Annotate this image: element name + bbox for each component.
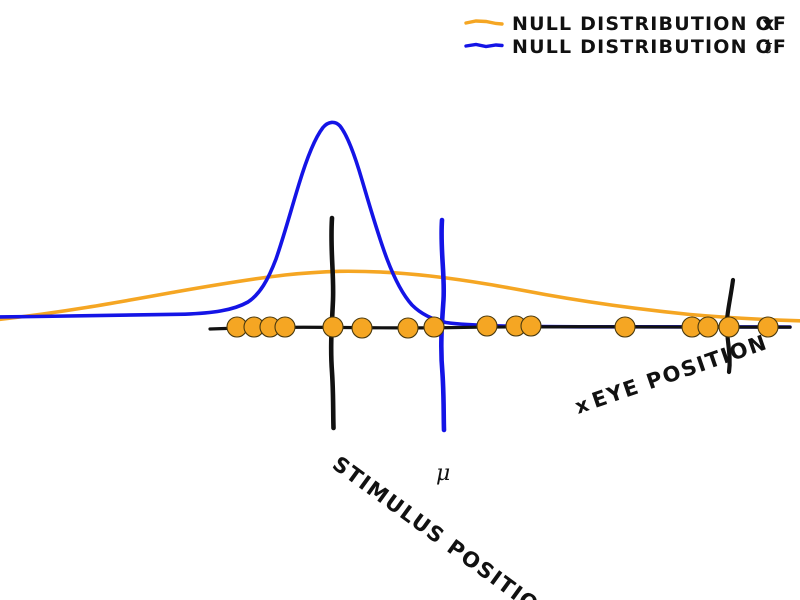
legend-entry-null-distribution-x[interactable]: NULL DISTRIBUTION OF x — [466, 13, 787, 35]
legend-label-null-distribution-x: NULL DISTRIBUTION OF — [512, 13, 787, 35]
x-eye-position-symbol: x — [572, 392, 592, 419]
x-eye-position-text: EYE POSITION — [589, 330, 771, 413]
legend-symbol-t: t — [764, 34, 773, 58]
null-distribution-figure: NULL DISTRIBUTION OF x NULL DISTRIBUTION… — [0, 0, 800, 600]
label-x-eye-position: x EYE POSITION — [572, 330, 771, 419]
data-point[interactable] — [398, 318, 418, 338]
curve-null-distribution-t — [0, 122, 790, 327]
data-point[interactable] — [521, 316, 541, 336]
data-point[interactable] — [352, 318, 372, 338]
data-point[interactable] — [698, 317, 718, 337]
data-point[interactable] — [615, 317, 635, 337]
data-point[interactable] — [323, 317, 343, 337]
legend-line-blue — [466, 45, 502, 47]
legend-label-null-distribution-t: NULL DISTRIBUTION OF — [512, 36, 787, 58]
legend-symbol-x: x — [762, 13, 774, 35]
data-point[interactable] — [424, 317, 444, 337]
legend-line-orange — [466, 21, 502, 24]
legend-entry-null-distribution-t[interactable]: NULL DISTRIBUTION OF t — [466, 34, 787, 58]
legend: NULL DISTRIBUTION OF x NULL DISTRIBUTION… — [466, 13, 787, 58]
data-point[interactable] — [719, 317, 739, 337]
data-point[interactable] — [275, 317, 295, 337]
mu-label: μ — [436, 461, 450, 486]
data-point[interactable] — [477, 316, 497, 336]
